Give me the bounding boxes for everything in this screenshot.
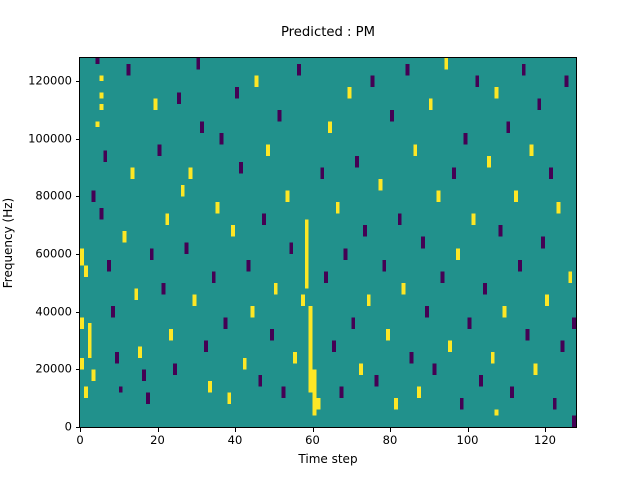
y-axis-label: Frequency (Hz): [2, 197, 14, 288]
y-tick-mark: [76, 369, 80, 370]
x-tick-mark: [313, 428, 314, 432]
y-tick-mark: [76, 139, 80, 140]
y-tick-mark: [76, 312, 80, 313]
y-tick-label: 60000: [35, 248, 72, 260]
y-tick-label: 20000: [35, 364, 72, 376]
y-tick-label: 40000: [35, 306, 72, 318]
y-tick-mark: [76, 427, 80, 428]
x-tick-mark: [545, 428, 546, 432]
x-tick-label: 100: [457, 435, 479, 447]
y-tick-label: 80000: [35, 191, 72, 203]
x-tick-label: 20: [150, 435, 165, 447]
heatmap-axes: [79, 57, 577, 428]
x-tick-label: 0: [76, 435, 83, 447]
y-tick-mark: [76, 81, 80, 82]
x-tick-label: 120: [534, 435, 556, 447]
x-axis-label: Time step: [79, 453, 577, 465]
x-tick-mark: [468, 428, 469, 432]
matplotlib-figure: Predicted : PM 020406080100120 020000400…: [0, 0, 640, 480]
x-tick-mark: [390, 428, 391, 432]
chart-title: Predicted : PM: [79, 26, 577, 39]
x-tick-mark: [80, 428, 81, 432]
x-tick-label: 60: [305, 435, 320, 447]
x-tick-mark: [158, 428, 159, 432]
x-tick-label: 80: [383, 435, 398, 447]
y-tick-label: 100000: [28, 133, 72, 145]
y-tick-label: 120000: [28, 75, 72, 87]
y-tick-mark: [76, 254, 80, 255]
y-tick-mark: [76, 196, 80, 197]
x-tick-mark: [235, 428, 236, 432]
heatmap-image: [80, 58, 576, 427]
x-tick-label: 40: [228, 435, 243, 447]
y-tick-label: 0: [65, 421, 72, 433]
y-axis-label-wrapper: Frequency (Hz): [0, 57, 16, 428]
